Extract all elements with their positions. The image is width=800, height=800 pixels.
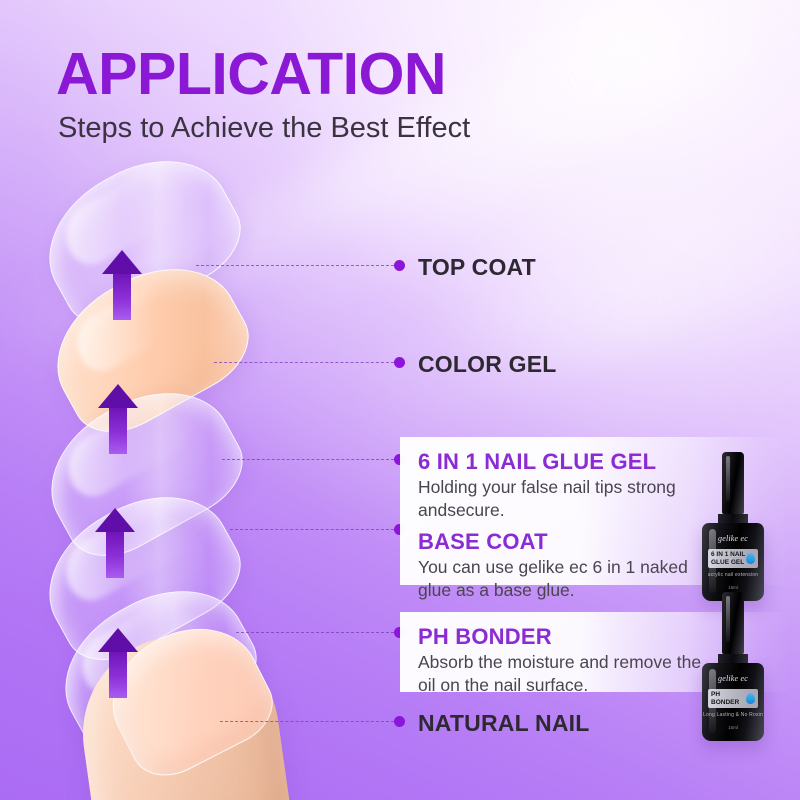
background-light-streak bbox=[336, 137, 800, 453]
leader-line-ph-bonder bbox=[236, 632, 394, 633]
callout-dot-color-gel bbox=[394, 357, 405, 368]
bottle-front-label: PH BONDER bbox=[708, 689, 758, 708]
bottle-label-line1: PH BONDER bbox=[711, 691, 746, 705]
bottle-volume-label: 15ml bbox=[702, 725, 764, 730]
nail-layer-color-gel bbox=[32, 240, 265, 450]
callout-label-top-coat: TOP COAT bbox=[418, 254, 536, 281]
bottle-neck bbox=[718, 514, 748, 523]
callout-dot-top-coat bbox=[394, 260, 405, 271]
bottle-label-line2: GLUE GEL bbox=[711, 559, 745, 566]
leader-line-natural-nail bbox=[220, 721, 394, 722]
bottle-cap bbox=[722, 452, 744, 514]
bottle-sub-label: acrylic nail extension bbox=[702, 572, 764, 578]
bottle-sub-label: Long Lasting & No Rosin bbox=[702, 712, 764, 718]
bottle-front-label: 6 IN 1 NAIL GLUE GEL bbox=[708, 549, 758, 568]
product-bottle-glue-gel: gelike ec 6 IN 1 NAIL GLUE GEL acrylic n… bbox=[702, 452, 764, 601]
water-drop-icon bbox=[746, 693, 755, 704]
page-subtitle: Steps to Achieve the Best Effect bbox=[58, 113, 696, 145]
leader-line-color-gel bbox=[214, 362, 394, 363]
callout-label-color-gel: COLOR GEL bbox=[418, 351, 557, 378]
leader-line-glue-gel bbox=[222, 459, 394, 460]
nail-layer-glue-gel bbox=[26, 364, 259, 574]
bottle-label-line1: 6 IN 1 NAIL bbox=[711, 551, 745, 558]
bottle-body: gelike ec PH BONDER Long Lasting & No Ro… bbox=[702, 663, 764, 741]
entry-desc-glue-gel: Holding your false nail tips strong ands… bbox=[418, 476, 708, 521]
entry-desc-ph-bonder: Absorb the moisture and remove the oil o… bbox=[418, 651, 708, 696]
bottle-brand-label: gelike ec bbox=[702, 674, 764, 683]
water-drop-icon bbox=[746, 553, 755, 564]
entry-desc-base-coat: You can use gelike ec 6 in 1 naked glue … bbox=[418, 556, 708, 601]
leader-line-top-coat bbox=[196, 265, 394, 266]
nail-layer-top-coat bbox=[24, 132, 257, 342]
nail-layer-ph-bonder bbox=[40, 562, 273, 772]
application-infographic: APPLICATION Steps to Achieve the Best Ef… bbox=[0, 0, 800, 800]
header: APPLICATION Steps to Achieve the Best Ef… bbox=[56, 44, 696, 145]
bottle-volume-label: 15ml bbox=[702, 585, 764, 590]
bottle-cap bbox=[722, 592, 744, 654]
product-bottle-ph-bonder: gelike ec PH BONDER Long Lasting & No Ro… bbox=[702, 592, 764, 741]
background-glow bbox=[430, 150, 800, 450]
page-title: APPLICATION bbox=[56, 44, 696, 104]
callout-label-natural-nail: NATURAL NAIL bbox=[418, 710, 589, 737]
bottle-brand-label: gelike ec bbox=[702, 534, 764, 543]
leader-line-base-coat bbox=[230, 529, 394, 530]
bottle-neck bbox=[718, 654, 748, 663]
fingertip bbox=[70, 623, 293, 800]
callout-dot-natural-nail bbox=[394, 716, 405, 727]
nail-layer-base-coat bbox=[24, 468, 257, 678]
bottle-body: gelike ec 6 IN 1 NAIL GLUE GEL acrylic n… bbox=[702, 523, 764, 601]
